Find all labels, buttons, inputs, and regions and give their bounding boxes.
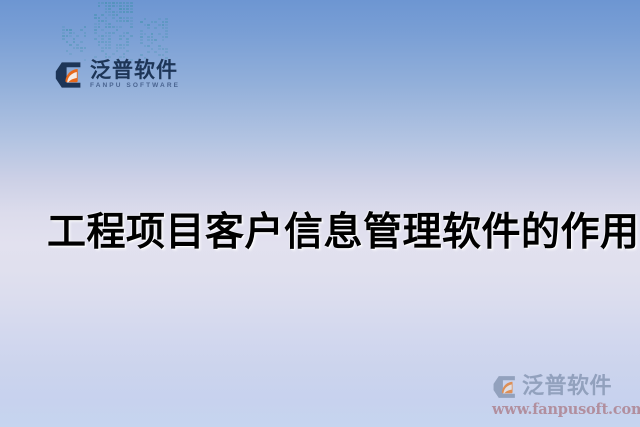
binary-code-skyline-graphic (62, 0, 182, 62)
fanpu-logo-mark-icon (54, 60, 84, 90)
header-brand-name-en: FANPU SOFTWARE (90, 83, 180, 90)
slide-canvas: 泛普软件 FANPU SOFTWARE 工程项目客户信息管理软件的作用 泛普软件… (0, 0, 640, 427)
fanpu-logo-mark-icon (492, 374, 518, 400)
watermark-logo: 泛普软件 (492, 374, 634, 400)
watermark-brand-name: 泛普软件 (522, 376, 612, 398)
header-brand-logo: 泛普软件 FANPU SOFTWARE (54, 60, 180, 90)
header-brand-name-cn: 泛普软件 (90, 60, 180, 81)
watermark: 泛普软件 www.fanpusoft.com (492, 374, 634, 418)
header-brand-wordmark: 泛普软件 FANPU SOFTWARE (90, 60, 180, 90)
page-title: 工程项目客户信息管理软件的作用 (47, 201, 640, 257)
watermark-url: www.fanpusoft.com (492, 401, 634, 418)
